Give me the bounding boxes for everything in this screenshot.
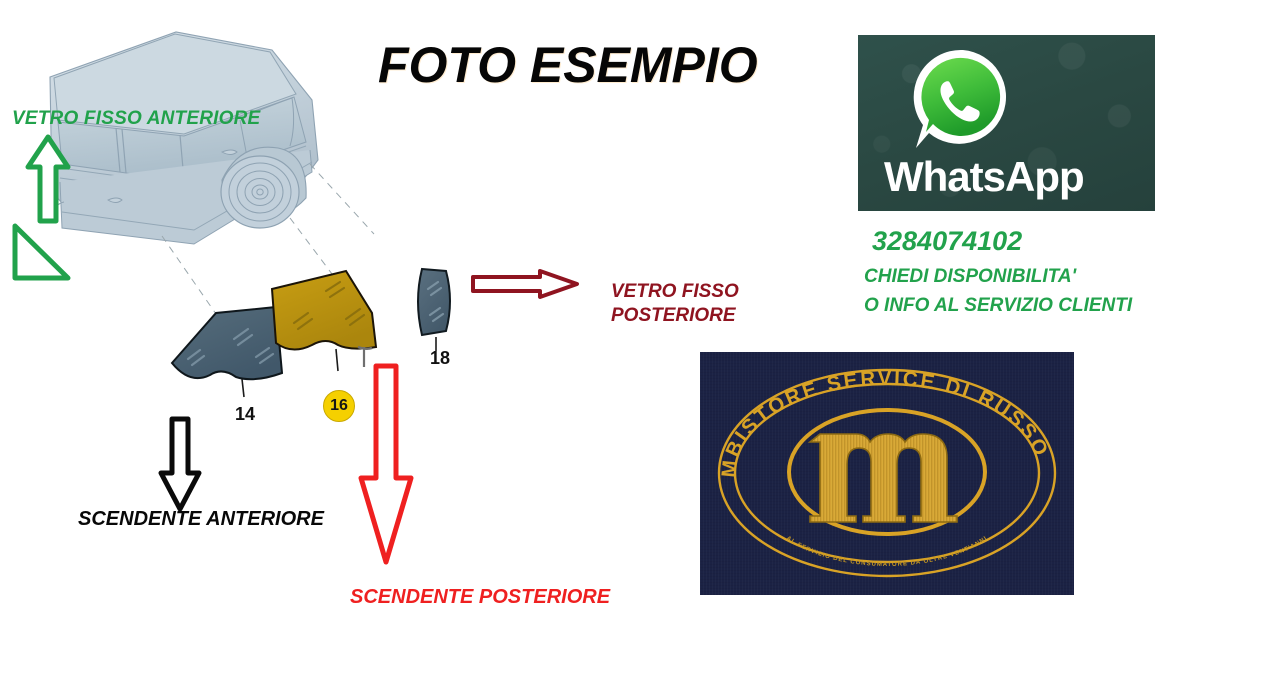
glass-part-14 (172, 307, 282, 397)
up-arrow-icon (25, 133, 71, 225)
glass-part-18 (418, 269, 450, 351)
glass-part-16 (272, 271, 376, 371)
exploded-glass-parts (150, 255, 490, 435)
poster-canvas: FOTO ESEMPIO (0, 0, 1264, 678)
whatsapp-wordmark: WhatsApp (884, 153, 1084, 201)
whatsapp-icon (908, 45, 1018, 155)
page-title: FOTO ESEMPIO (378, 36, 758, 94)
label-line-2: POSTERIORE (611, 304, 739, 328)
right-arrow-icon (470, 268, 580, 300)
phone-number[interactable]: 3284074102 (872, 226, 1022, 257)
label-scendente-anteriore: SCENDENTE ANTERIORE (78, 508, 324, 531)
triangle-marker-icon (10, 222, 72, 284)
part-number-14: 14 (235, 404, 255, 425)
label-line-1: VETRO FISSO (611, 280, 739, 304)
part-number-badge-16: 16 (323, 390, 355, 422)
down-arrow-icon (357, 362, 415, 567)
brand-tagline: AL SERVIZIO DEL CONSUMATORE DA OLTRE VEN… (785, 535, 989, 568)
contact-line-1: CHIEDI DISPONIBILITA' (864, 266, 1076, 288)
whatsapp-banner: WhatsApp (858, 35, 1155, 211)
contact-line-2: O INFO AL SERVIZIO CLIENTI (864, 295, 1132, 317)
label-scendente-posteriore: SCENDENTE POSTERIORE (350, 586, 610, 609)
brand-monogram (810, 434, 957, 522)
brand-logo: MRICAMBISTORE SERVICE DI RUSSO MARCO AL … (700, 352, 1074, 595)
part-number-18: 18 (430, 348, 450, 369)
label-vetro-fisso-anteriore: VETRO FISSO ANTERIORE (12, 108, 260, 130)
label-vetro-fisso-posteriore: VETRO FISSO POSTERIORE (611, 280, 739, 329)
down-arrow-icon (158, 415, 202, 513)
